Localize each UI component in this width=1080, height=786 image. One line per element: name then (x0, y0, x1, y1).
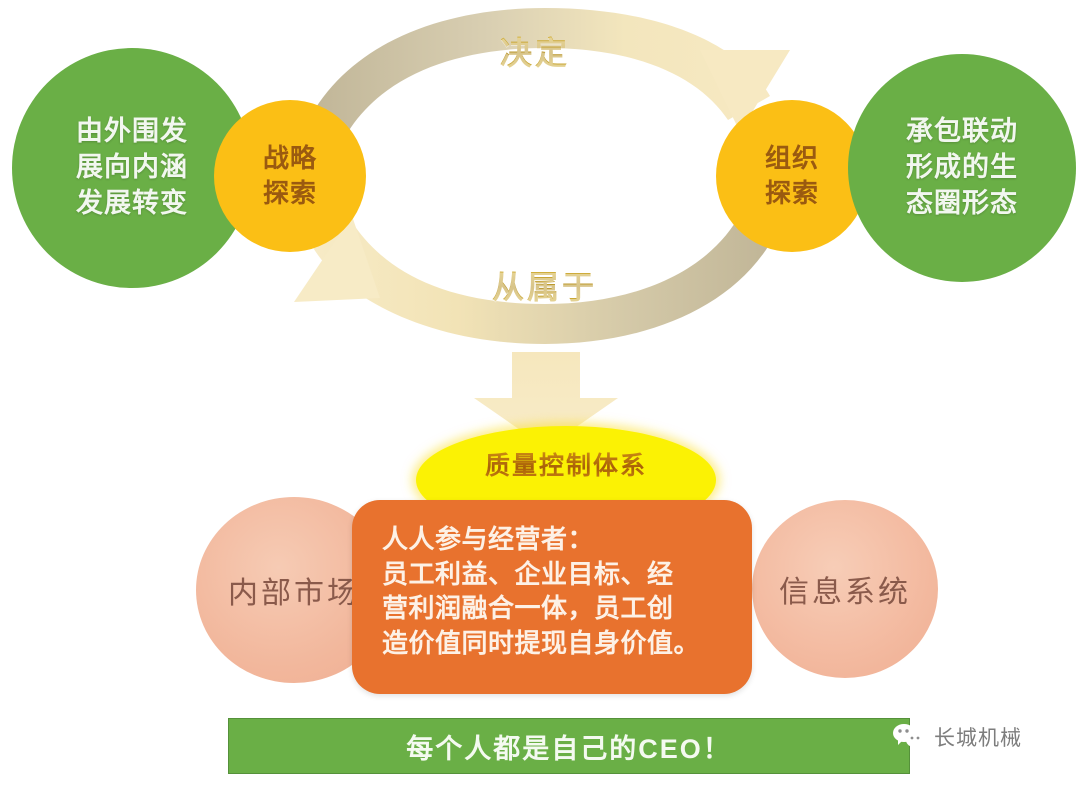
green-circle-right[interactable]: 承包联动 形成的生 态圈形态 (848, 54, 1076, 282)
diagram-canvas: 由外围发 展向内涵 发展转变 战略 探索 组织 探索 承包联动 形成的生 态圈形… (0, 0, 1080, 786)
bottom-arrow-label: 从属于 (492, 262, 597, 308)
pink-ellipse-information-system[interactable]: 信息系统 (752, 500, 938, 678)
pink-ellipse-left-label: 内部市场 (228, 568, 360, 612)
green-banner-label: 每个人都是自己的CEO！ (406, 727, 732, 766)
top-arrow-label: 决定 (500, 28, 570, 74)
orange-callout-box[interactable]: 人人参与经营者： 员工利益、企业目标、经 营利润融合一体，员工创 造价值同时提现… (352, 500, 752, 694)
amber-circle-organization[interactable]: 组织 探索 (716, 100, 868, 252)
watermark: 长城机械 (892, 722, 1022, 752)
watermark-label: 长城机械 (934, 722, 1022, 752)
green-banner[interactable]: 每个人都是自己的CEO！ (228, 718, 910, 774)
amber-circle-strategy[interactable]: 战略 探索 (214, 100, 366, 252)
wechat-icon (892, 722, 926, 752)
orange-callout-text: 人人参与经营者： 员工利益、企业目标、经 营利润融合一体，员工创 造价值同时提现… (382, 522, 738, 660)
yellow-ellipse-label: 质量控制体系 (416, 446, 716, 482)
pink-ellipse-right-label: 信息系统 (779, 567, 911, 611)
